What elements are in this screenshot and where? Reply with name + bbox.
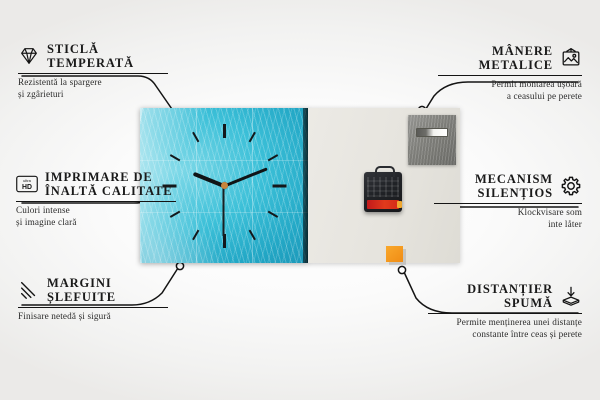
- callout-header: MÂNEREMETALICE: [428, 44, 582, 72]
- svg-text:HD: HD: [22, 184, 32, 191]
- callout-title: STICLĂTEMPERATĂ: [47, 42, 134, 70]
- callout-title: MÂNEREMETALICE: [479, 44, 553, 72]
- spacer-arrow-icon: [560, 285, 582, 307]
- hanger-keyslot: [416, 128, 448, 137]
- callout-description: Finisare netedă și sigură: [18, 311, 178, 322]
- callout-description: Permite menținerea unei distanțeconstant…: [418, 317, 582, 340]
- callout-rule: [434, 203, 582, 204]
- callout-imprimare-inalta-calitate: ultra HD IMPRIMARE DEÎNALTĂ CALITATE Cul…: [16, 170, 188, 228]
- callout-title: MARGINIȘLEFUITE: [47, 276, 116, 304]
- tick-12: [223, 124, 226, 138]
- callout-rule: [18, 307, 168, 308]
- callout-rule: [16, 201, 176, 202]
- diamond-icon: [18, 45, 40, 67]
- tick-10: [170, 154, 181, 161]
- ultra-hd-icon: ultra HD: [16, 173, 38, 195]
- minute-hand: [223, 167, 267, 187]
- callout-rule: [438, 75, 582, 76]
- tick-3: [272, 184, 286, 187]
- callout-rule: [428, 313, 582, 314]
- callout-sticla-temperata: STICLĂTEMPERATĂ Rezistentă la spargereși…: [18, 42, 178, 100]
- metal-hanger-plate: [408, 115, 456, 165]
- tick-4: [268, 210, 279, 217]
- tick-7: [192, 229, 199, 240]
- callout-header: MECANISMSILENȚIOS: [424, 172, 582, 200]
- foam-spacer: [386, 246, 403, 262]
- second-hand: [223, 186, 225, 236]
- callout-margini-slefuite: MARGINIȘLEFUITE Finisare netedă și sigur…: [18, 276, 178, 323]
- quartz-mechanism: [364, 172, 402, 212]
- product-image: [140, 108, 460, 266]
- picture-frame-icon: [560, 47, 582, 69]
- hour-hand: [193, 171, 225, 187]
- callout-rule: [18, 73, 168, 74]
- polished-edges-icon: [18, 279, 40, 301]
- callout-header: MARGINIȘLEFUITE: [18, 276, 178, 304]
- tick-11: [192, 131, 199, 142]
- battery: [367, 200, 399, 209]
- callout-title: IMPRIMARE DEÎNALTĂ CALITATE: [45, 170, 173, 198]
- infographic-canvas: STICLĂTEMPERATĂ Rezistentă la spargereși…: [0, 0, 600, 400]
- callout-header: DISTANȚIERSPUMĂ: [418, 282, 582, 310]
- gear-icon: [560, 175, 582, 197]
- tick-1: [249, 131, 256, 142]
- callout-header: ultra HD IMPRIMARE DEÎNALTĂ CALITATE: [16, 170, 188, 198]
- callout-description: Permit montarea ușoarăa ceasului pe pere…: [428, 79, 582, 102]
- svg-text:ultra: ultra: [23, 178, 31, 183]
- clock-hub: [221, 182, 228, 189]
- callout-manere-metalice: MÂNEREMETALICE Permit montarea ușoarăa c…: [428, 44, 582, 102]
- callout-description: Klockvisare sominte låter: [424, 207, 582, 230]
- callout-mecanism-silentios: MECANISMSILENȚIOS Klockvisare sominte lå…: [424, 172, 582, 230]
- callout-title: DISTANȚIERSPUMĂ: [467, 282, 553, 310]
- callout-header: STICLĂTEMPERATĂ: [18, 42, 178, 70]
- callout-description: Rezistentă la spargereși zgârieturi: [18, 77, 178, 100]
- mechanism-texture: [367, 177, 399, 197]
- tick-5: [249, 229, 256, 240]
- callout-description: Culori intenseși imagine clară: [16, 205, 188, 228]
- tick-2: [268, 154, 279, 161]
- callout-title: MECANISMSILENȚIOS: [475, 172, 553, 200]
- callout-distantier-spuma: DISTANȚIERSPUMĂ Permite menținerea unei …: [418, 282, 582, 340]
- endpoint-distantier: [398, 266, 405, 273]
